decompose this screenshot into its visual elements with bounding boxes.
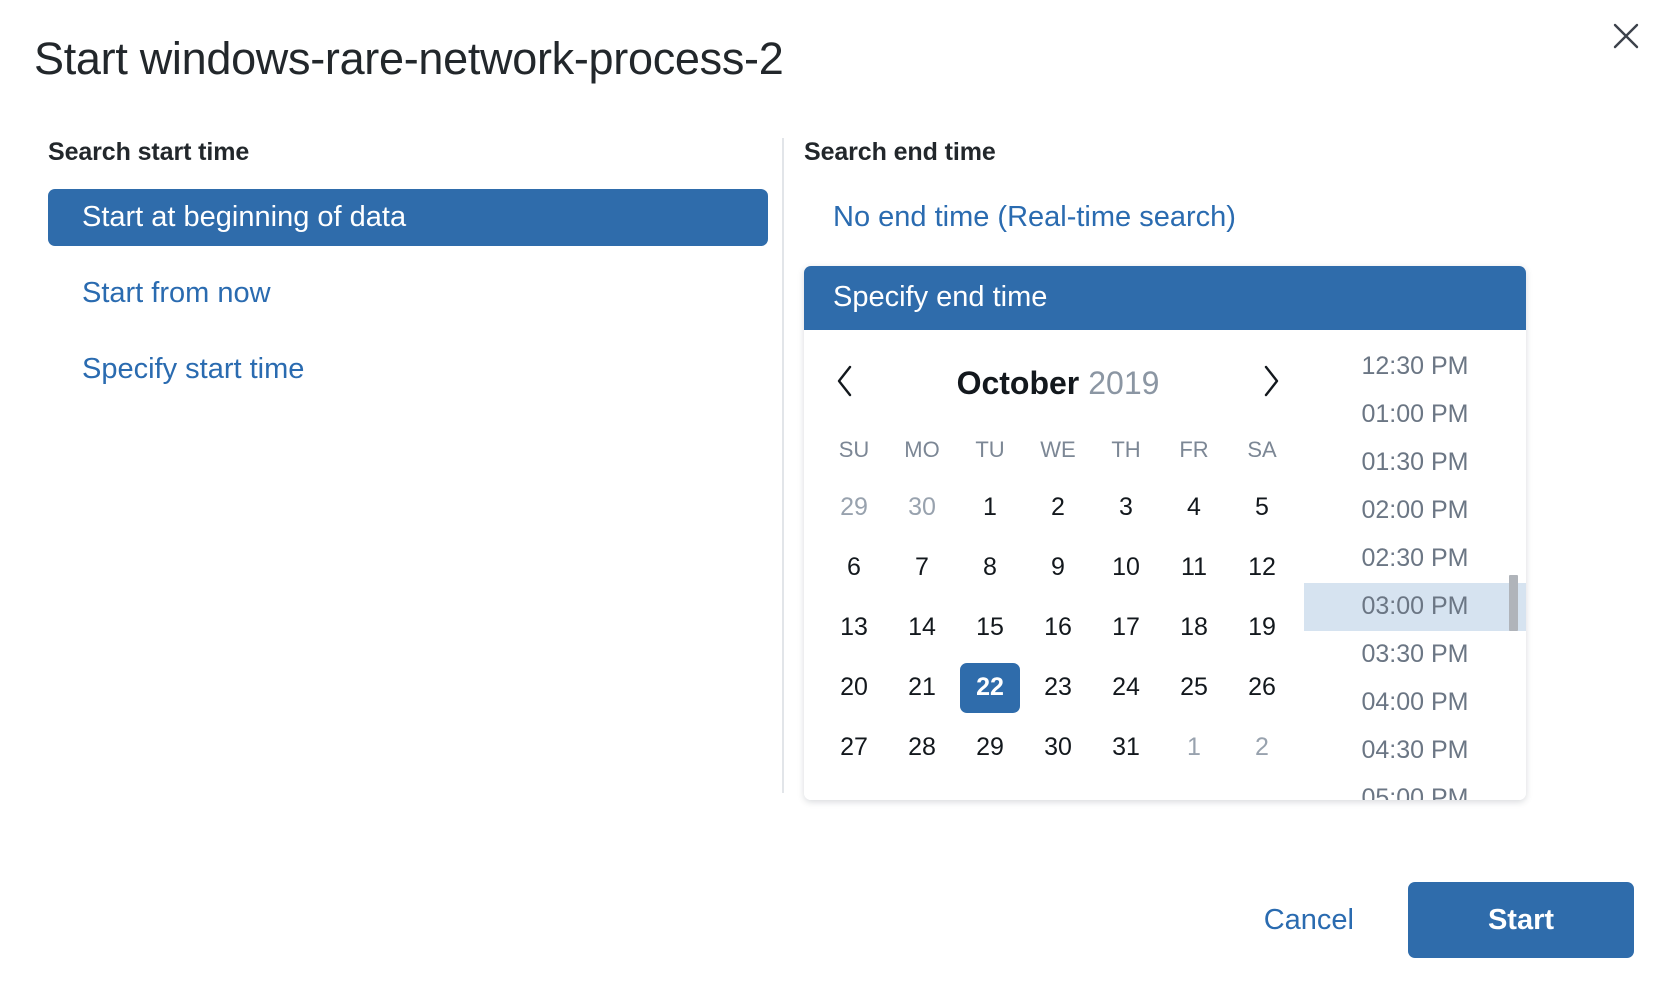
calendar-day-cell: 29 — [956, 718, 1024, 778]
calendar: October2019 SUMOTUWETHFRSA2930123456 — [804, 330, 1304, 800]
calendar-day-cell: 20 — [820, 658, 888, 718]
calendar-month: October — [957, 365, 1080, 401]
calendar-weekday-th: TH — [1092, 422, 1160, 478]
calendar-day-cell: 29 — [820, 478, 888, 538]
calendar-day-2[interactable]: 2 — [1232, 723, 1292, 773]
calendar-day-27[interactable]: 27 — [824, 723, 884, 773]
option-no-end-time[interactable]: No end time (Real-time search) — [804, 189, 1666, 246]
time-option-04-00-pm[interactable]: 04:00 PM — [1304, 679, 1526, 727]
calendar-day-1[interactable]: 1 — [960, 483, 1020, 533]
search-start-time-panel: Search start time Start at beginning of … — [0, 138, 782, 798]
time-option-03-00-pm[interactable]: 03:00 PM — [1304, 583, 1526, 631]
calendar-day-cell: 3 — [1092, 478, 1160, 538]
time-list-panel[interactable]: 12:30 PM01:00 PM01:30 PM02:00 PM02:30 PM… — [1304, 330, 1526, 800]
calendar-day-cell: 19 — [1228, 598, 1296, 658]
calendar-day-12[interactable]: 12 — [1232, 543, 1292, 593]
calendar-day-30[interactable]: 30 — [1028, 723, 1088, 773]
search-start-time-label: Search start time — [48, 138, 768, 167]
dialog-footer: Cancel Start — [0, 846, 1666, 994]
dialog-body: Search start time Start at beginning of … — [0, 138, 1666, 798]
calendar-day-19[interactable]: 19 — [1232, 603, 1292, 653]
calendar-day-cell: 17 — [1092, 598, 1160, 658]
picker-header-specify-end-time[interactable]: Specify end time — [804, 266, 1526, 330]
calendar-weekday-sa: SA — [1228, 422, 1296, 478]
calendar-day-cell: 24 — [1092, 658, 1160, 718]
time-option-04-30-pm[interactable]: 04:30 PM — [1304, 727, 1526, 775]
search-end-time-panel: Search end time No end time (Real-time s… — [784, 138, 1666, 798]
calendar-day-cell: 14 — [888, 598, 956, 658]
calendar-day-cell: 30 — [1024, 718, 1092, 778]
time-option-12-30-pm[interactable]: 12:30 PM — [1304, 343, 1526, 391]
calendar-month-year: October2019 — [870, 365, 1246, 402]
calendar-day-cell: 25 — [1160, 658, 1228, 718]
prev-month-button[interactable] — [820, 359, 870, 409]
option-start-at-beginning-of-data[interactable]: Start at beginning of data — [48, 189, 768, 246]
time-option-01-30-pm[interactable]: 01:30 PM — [1304, 439, 1526, 487]
start-time-option-list: Start at beginning of data Start from no… — [48, 189, 768, 398]
calendar-day-11[interactable]: 11 — [1164, 543, 1224, 593]
calendar-day-29[interactable]: 29 — [960, 723, 1020, 773]
calendar-day-26[interactable]: 26 — [1232, 663, 1292, 713]
calendar-day-6[interactable]: 6 — [824, 543, 884, 593]
calendar-day-2[interactable]: 2 — [1028, 483, 1088, 533]
option-label: Specify start time — [82, 353, 304, 385]
calendar-day-cell: 21 — [888, 658, 956, 718]
calendar-day-cell: 2 — [1024, 478, 1092, 538]
calendar-weekday-su: SU — [820, 422, 888, 478]
close-icon — [1611, 21, 1641, 51]
calendar-day-17[interactable]: 17 — [1096, 603, 1156, 653]
calendar-day-cell: 11 — [1160, 538, 1228, 598]
calendar-day-cell: 28 — [888, 718, 956, 778]
end-time-picker: Specify end time — [804, 266, 1526, 800]
calendar-day-5[interactable]: 5 — [1232, 483, 1292, 533]
calendar-day-cell: 15 — [956, 598, 1024, 658]
start-button[interactable]: Start — [1408, 882, 1634, 958]
calendar-day-cell: 7 — [888, 538, 956, 598]
calendar-day-16[interactable]: 16 — [1028, 603, 1088, 653]
calendar-day-cell: 5 — [1228, 478, 1296, 538]
calendar-nav: October2019 — [820, 346, 1296, 422]
picker-body: October2019 SUMOTUWETHFRSA2930123456 — [804, 330, 1526, 800]
calendar-day-cell: 16 — [1024, 598, 1092, 658]
calendar-day-cell: 22 — [956, 658, 1024, 718]
calendar-day-cell: 12 — [1228, 538, 1296, 598]
option-label: No end time (Real-time search) — [833, 201, 1236, 233]
calendar-weekday-fr: FR — [1160, 422, 1228, 478]
calendar-day-15[interactable]: 15 — [960, 603, 1020, 653]
calendar-grid: SUMOTUWETHFRSA29301234567891011121314151… — [820, 422, 1296, 778]
calendar-day-18[interactable]: 18 — [1164, 603, 1224, 653]
search-end-time-label: Search end time — [804, 138, 1666, 167]
calendar-day-22-selected[interactable]: 22 — [960, 663, 1020, 713]
chevron-left-icon — [834, 364, 856, 403]
calendar-day-23[interactable]: 23 — [1028, 663, 1088, 713]
start-search-dialog: Start windows-rare-network-process-2 Sea… — [0, 0, 1666, 994]
calendar-day-25[interactable]: 25 — [1164, 663, 1224, 713]
option-specify-start-time[interactable]: Specify start time — [48, 341, 768, 398]
calendar-weekday-mo: MO — [888, 422, 956, 478]
calendar-day-24[interactable]: 24 — [1096, 663, 1156, 713]
calendar-day-cell: 2 — [1228, 718, 1296, 778]
time-option-01-00-pm[interactable]: 01:00 PM — [1304, 391, 1526, 439]
calendar-day-1[interactable]: 1 — [1164, 723, 1224, 773]
calendar-year: 2019 — [1088, 365, 1159, 401]
calendar-day-cell: 26 — [1228, 658, 1296, 718]
next-month-button[interactable] — [1246, 359, 1296, 409]
calendar-weekday-tu: TU — [956, 422, 1024, 478]
calendar-day-cell: 9 — [1024, 538, 1092, 598]
page-title: Start windows-rare-network-process-2 — [34, 33, 783, 85]
calendar-day-14[interactable]: 14 — [892, 603, 952, 653]
calendar-day-cell: 6 — [820, 538, 888, 598]
calendar-day-cell: 30 — [888, 478, 956, 538]
calendar-day-cell: 8 — [956, 538, 1024, 598]
picker-header-label: Specify end time — [833, 281, 1047, 313]
calendar-day-cell: 31 — [1092, 718, 1160, 778]
scrollbar-thumb[interactable] — [1509, 575, 1518, 631]
option-label: Start at beginning of data — [82, 201, 406, 233]
calendar-day-29[interactable]: 29 — [824, 483, 884, 533]
calendar-day-13[interactable]: 13 — [824, 603, 884, 653]
calendar-day-cell: 1 — [1160, 718, 1228, 778]
calendar-day-cell: 18 — [1160, 598, 1228, 658]
calendar-day-7[interactable]: 7 — [892, 543, 952, 593]
cancel-button[interactable]: Cancel — [1250, 894, 1368, 947]
calendar-day-cell: 23 — [1024, 658, 1092, 718]
calendar-day-21[interactable]: 21 — [892, 663, 952, 713]
option-label: Start from now — [82, 277, 271, 309]
calendar-day-31[interactable]: 31 — [1096, 723, 1156, 773]
calendar-weekday-we: WE — [1024, 422, 1092, 478]
end-time-option-list: No end time (Real-time search) — [804, 189, 1666, 246]
time-option-02-00-pm[interactable]: 02:00 PM — [1304, 487, 1526, 535]
calendar-day-4[interactable]: 4 — [1164, 483, 1224, 533]
calendar-day-cell: 4 — [1160, 478, 1228, 538]
time-option-03-30-pm[interactable]: 03:30 PM — [1304, 631, 1526, 679]
time-option-02-30-pm[interactable]: 02:30 PM — [1304, 535, 1526, 583]
calendar-day-8[interactable]: 8 — [960, 543, 1020, 593]
calendar-day-20[interactable]: 20 — [824, 663, 884, 713]
time-list: 12:30 PM01:00 PM01:30 PM02:00 PM02:30 PM… — [1304, 343, 1526, 800]
calendar-day-cell: 27 — [820, 718, 888, 778]
time-list-scrollbar[interactable] — [1509, 330, 1518, 800]
calendar-day-9[interactable]: 9 — [1028, 543, 1088, 593]
calendar-day-cell: 13 — [820, 598, 888, 658]
calendar-day-30[interactable]: 30 — [892, 483, 952, 533]
option-start-from-now[interactable]: Start from now — [48, 265, 768, 322]
calendar-day-3[interactable]: 3 — [1096, 483, 1156, 533]
calendar-day-cell: 10 — [1092, 538, 1160, 598]
chevron-right-icon — [1260, 364, 1282, 403]
close-button[interactable] — [1604, 14, 1648, 58]
calendar-day-cell: 1 — [956, 478, 1024, 538]
calendar-day-28[interactable]: 28 — [892, 723, 952, 773]
calendar-day-10[interactable]: 10 — [1096, 543, 1156, 593]
time-option-05-00-pm[interactable]: 05:00 PM — [1304, 775, 1526, 800]
